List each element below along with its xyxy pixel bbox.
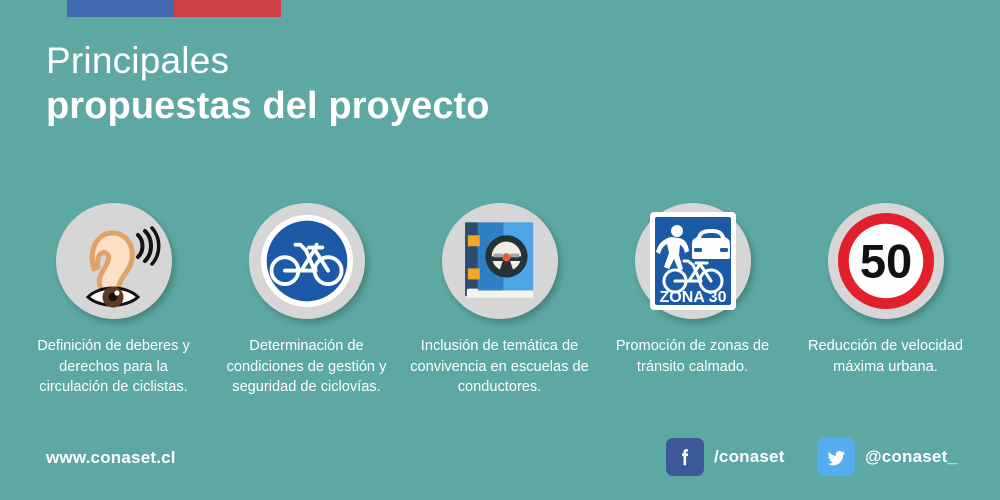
proposal-item-5: 50 Reducción de velocidad máxima urbana. [789,203,982,398]
proposal-caption-2: Determinación de condiciones de gestión … [210,336,403,398]
twitter-link[interactable]: @conaset_ [817,438,957,476]
proposal-item-3: Inclusión de temática de convivencia en … [403,203,596,398]
infographic-poster: Principales propuestas del proyecto [0,0,1000,500]
title-light-line: Principales [46,40,746,83]
proposal-item-2: Determinación de condiciones de gestión … [210,203,403,398]
bicycle-sign-icon [259,213,355,309]
badge-circle-1 [56,203,172,319]
twitter-handle: @conaset_ [865,447,957,467]
badge-circle-3 [442,203,558,319]
proposal-item-1: Definición de deberes y derechos para la… [17,203,210,398]
zona-30-sign-icon: ZONA 30 [648,211,738,311]
flag-bar-blue-segment [67,0,174,17]
badge-circle-5: 50 [828,203,944,319]
proposal-caption-4: Promoción de zonas de tránsito calmado. [596,336,789,377]
footer: www.conaset.cl /conaset @conaset_ [0,430,1000,500]
speed-limit-value: 50 [859,235,911,288]
facebook-link[interactable]: /conaset [666,438,785,476]
facebook-handle: /conaset [714,447,785,467]
flag-color-bar [67,0,281,17]
proposal-item-4: ZONA 30 Promoción de zonas de tránsito c… [596,203,789,398]
page-title: Principales propuestas del proyecto [46,40,746,130]
proposals-row: Definición de deberes y derechos para la… [0,203,1000,398]
speed-limit-50-sign-icon: 50 [837,212,935,310]
driving-manual-book-icon [454,215,546,307]
website-link[interactable]: www.conaset.cl [46,448,176,468]
facebook-icon [666,438,704,476]
badge-circle-4: ZONA 30 [635,203,751,319]
proposal-caption-1: Definición de deberes y derechos para la… [17,336,210,398]
proposal-caption-5: Reducción de velocidad máxima urbana. [789,336,982,377]
title-bold-line: propuestas del proyecto [46,83,746,131]
ear-eye-icon [64,211,164,311]
zona-30-sign-label: ZONA 30 [659,289,726,306]
flag-bar-red-segment [174,0,281,17]
badge-circle-2 [249,203,365,319]
proposal-caption-3: Inclusión de temática de convivencia en … [403,336,596,398]
twitter-icon [817,438,855,476]
